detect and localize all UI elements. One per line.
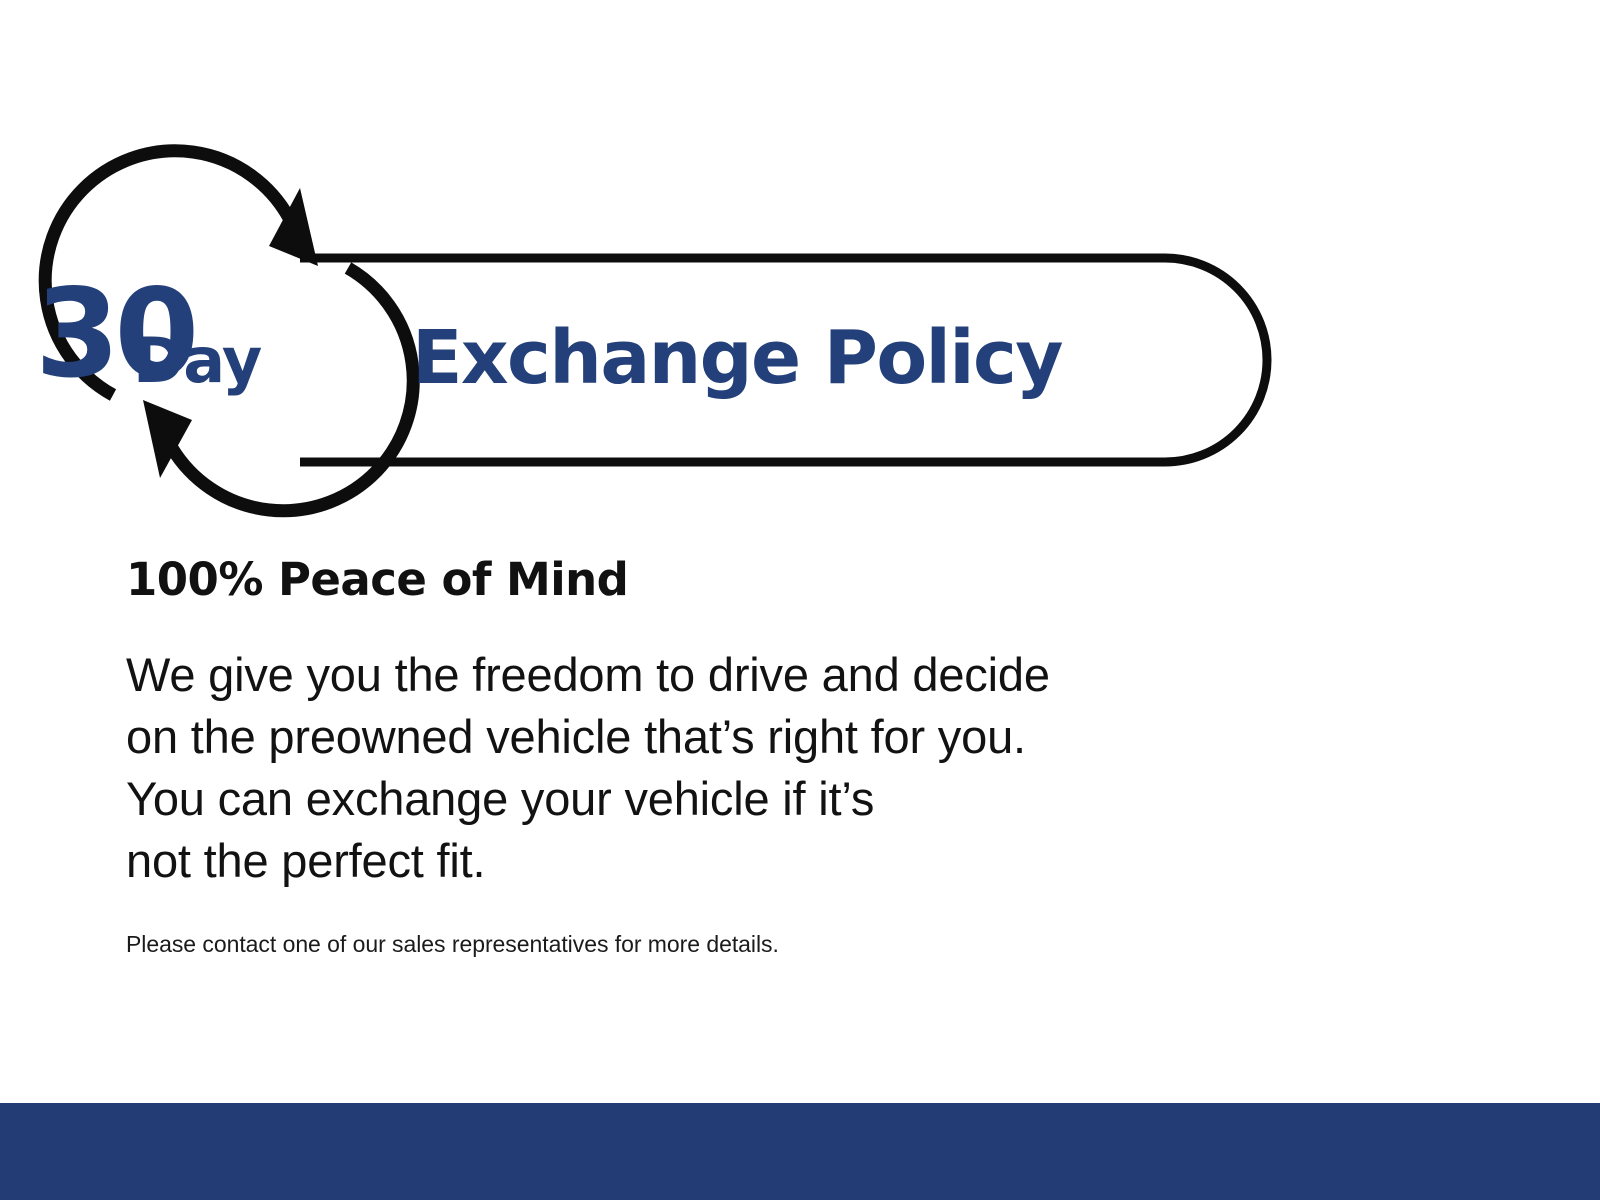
body-paragraph: We give you the freedom to drive and dec… xyxy=(126,644,1386,892)
paragraph-line: on the preowned vehicle that’s right for… xyxy=(126,706,1386,768)
paragraph-line: not the perfect fit. xyxy=(126,830,1386,892)
fineprint-disclaimer: Please contact one of our sales represen… xyxy=(126,930,1386,960)
copy-block: 100% Peace of Mind We give you the freed… xyxy=(126,556,1386,960)
paragraph-line: We give you the freedom to drive and dec… xyxy=(126,644,1386,706)
pill-title: Exchange Policy xyxy=(412,315,1062,401)
exchange-policy-badge: 30 Day Exchange Policy xyxy=(0,180,1320,510)
badge-graphic: 30 Day Exchange Policy xyxy=(0,180,1320,510)
paragraph-line: You can exchange your vehicle if it’s xyxy=(126,768,1386,830)
bottom-accent-band xyxy=(0,1103,1600,1200)
badge-unit: Day xyxy=(133,324,262,397)
slide-canvas: 30 Day Exchange Policy 100% Peace of Min… xyxy=(0,0,1600,1200)
headline: 100% Peace of Mind xyxy=(126,556,1386,604)
